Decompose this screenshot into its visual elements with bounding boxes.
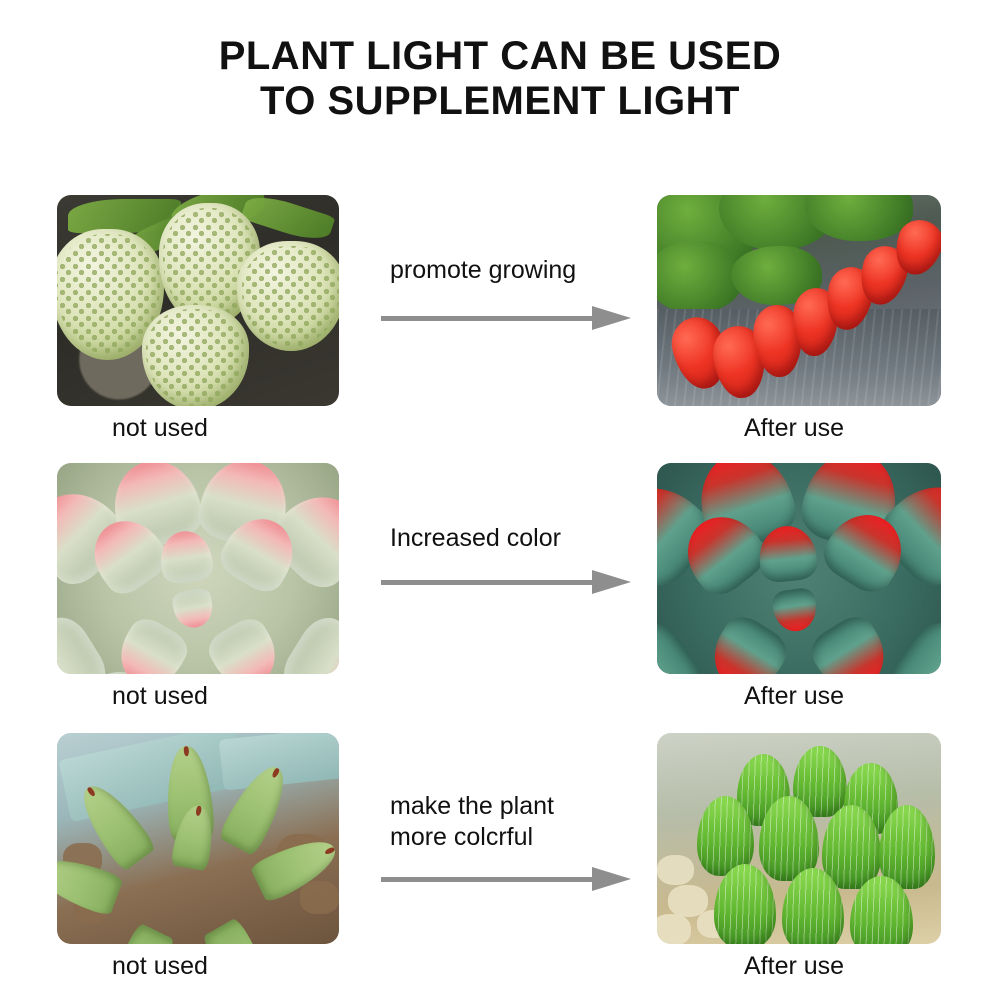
arrow-shaft (381, 580, 599, 585)
caption-before-strawberries: not used (112, 414, 208, 442)
arrow-right-icon (378, 304, 638, 334)
arrow-group-increased-color: Increased color (378, 523, 638, 598)
arrow-right-icon (378, 568, 638, 598)
arrow-head (592, 306, 631, 330)
arrow-label-line-1: make the plant (378, 791, 638, 822)
unripe-strawberry-photo (57, 195, 339, 406)
page-title-line-1: PLANT LIGHT CAN BE USED (0, 34, 1000, 79)
vivid-echeveria-photo (657, 463, 941, 674)
after-image-strawberries (657, 195, 941, 406)
arrow-head (592, 570, 631, 594)
before-image-strawberries (57, 195, 339, 406)
caption-after-echeveria: After use (744, 682, 844, 710)
caption-before-haworthia: not used (112, 952, 208, 980)
after-image-echeveria (657, 463, 941, 674)
caption-after-haworthia: After use (744, 952, 844, 980)
arrow-shaft (381, 877, 599, 882)
arrow-shaft (381, 316, 599, 321)
after-image-haworthia (657, 733, 941, 944)
arrow-group-promote-growing: promote growing (378, 255, 638, 334)
arrow-label-line-1: promote growing (378, 255, 638, 286)
ripe-strawberry-photo (657, 195, 941, 406)
caption-before-echeveria: not used (112, 682, 208, 710)
page-title: PLANT LIGHT CAN BE USED TO SUPPLEMENT LI… (0, 34, 1000, 124)
arrow-head (592, 867, 631, 891)
page-title-line-2: TO SUPPLEMENT LIGHT (0, 79, 1000, 124)
arrow-right-icon (378, 865, 638, 895)
before-image-haworthia (57, 733, 339, 944)
arrow-group-make-more-colorful: make the plant more colcrful (378, 791, 638, 895)
caption-after-strawberries: After use (744, 414, 844, 442)
pale-echeveria-photo (57, 463, 339, 674)
green-succulent-photo (57, 733, 339, 944)
haworthia-photo (657, 733, 941, 944)
before-image-echeveria (57, 463, 339, 674)
arrow-label-line-2: more colcrful (378, 822, 638, 853)
arrow-label-line-1: Increased color (378, 523, 638, 554)
